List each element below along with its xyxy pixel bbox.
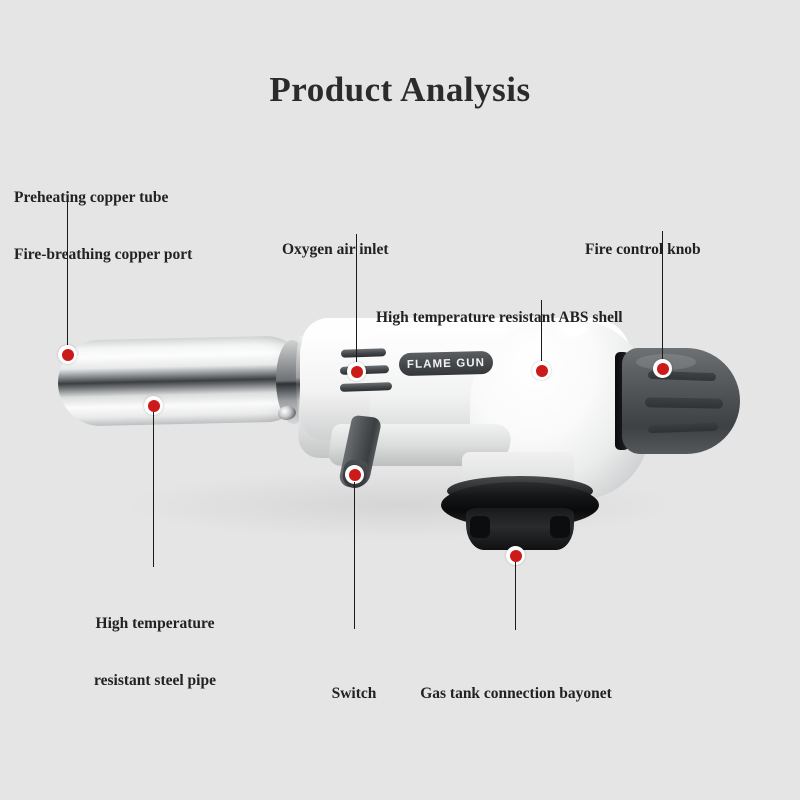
abs-shell-nose <box>300 330 370 440</box>
marker-dot-preheating-copper-tube <box>58 345 77 364</box>
leader-line-fire-control-knob <box>662 231 663 369</box>
callout-label-abs-shell: High temperature resistant ABS shell <box>376 270 623 365</box>
ground-shadow <box>120 470 680 540</box>
marker-dot-abs-shell <box>532 361 551 380</box>
callout-line-2: resistant steel pipe <box>60 671 250 690</box>
product-analysis-diagram: Product Analysis FLAME GUN <box>0 0 800 800</box>
bayonet-notch-right <box>550 516 570 538</box>
callout-line-1: High temperature <box>60 614 250 633</box>
callout-line-2: Fire-breathing copper port <box>14 245 192 264</box>
callout-line-1: Oxygen air inlet <box>282 240 389 259</box>
callout-label-gas-tank-bayonet: Gas tank connection bayonet <box>400 646 632 741</box>
page-title: Product Analysis <box>0 70 800 110</box>
steel-pipe-barrel <box>57 335 309 427</box>
marker-dot-oxygen-air-inlet <box>347 362 366 381</box>
leader-line-oxygen-air-inlet <box>356 234 357 371</box>
callout-label-preheating-copper-tube: Preheating copper tube Fire-breathing co… <box>14 150 192 302</box>
barrel-collar <box>295 336 313 428</box>
fire-knob-edge <box>615 352 629 450</box>
leader-line-preheating-copper-tube <box>67 200 68 355</box>
bayonet-neck <box>462 452 574 496</box>
callout-label-oxygen-air-inlet: Oxygen air inlet <box>282 202 389 297</box>
callout-line-1: Switch <box>304 684 404 703</box>
callout-line-1: Fire control knob <box>585 240 701 259</box>
leader-line-switch <box>354 482 355 629</box>
bayonet-flange-top <box>447 476 593 506</box>
barrel-screw-icon <box>277 405 297 421</box>
oxygen-vent-slot <box>340 382 392 392</box>
leader-line-abs-shell <box>541 300 542 370</box>
callout-line-1: Preheating copper tube <box>14 188 192 207</box>
abs-shell-lower-lip <box>327 424 513 466</box>
bayonet-notch-left <box>470 516 490 538</box>
fire-control-knob <box>622 348 740 454</box>
callout-label-switch: Switch <box>304 646 404 741</box>
steel-pipe-end-cap <box>275 340 311 425</box>
leader-line-gas-tank-bayonet <box>515 562 516 630</box>
knob-groove <box>648 423 718 433</box>
callout-line-1: Gas tank connection bayonet <box>400 684 632 703</box>
knob-groove <box>645 397 723 408</box>
callout-label-steel-pipe: High temperature resistant steel pipe <box>60 576 250 728</box>
callout-line-1: High temperature resistant ABS shell <box>376 308 623 327</box>
bayonet-ring <box>466 508 574 550</box>
bayonet-flange <box>441 482 599 528</box>
marker-dot-fire-control-knob <box>653 359 672 378</box>
leader-line-steel-pipe <box>153 412 154 567</box>
